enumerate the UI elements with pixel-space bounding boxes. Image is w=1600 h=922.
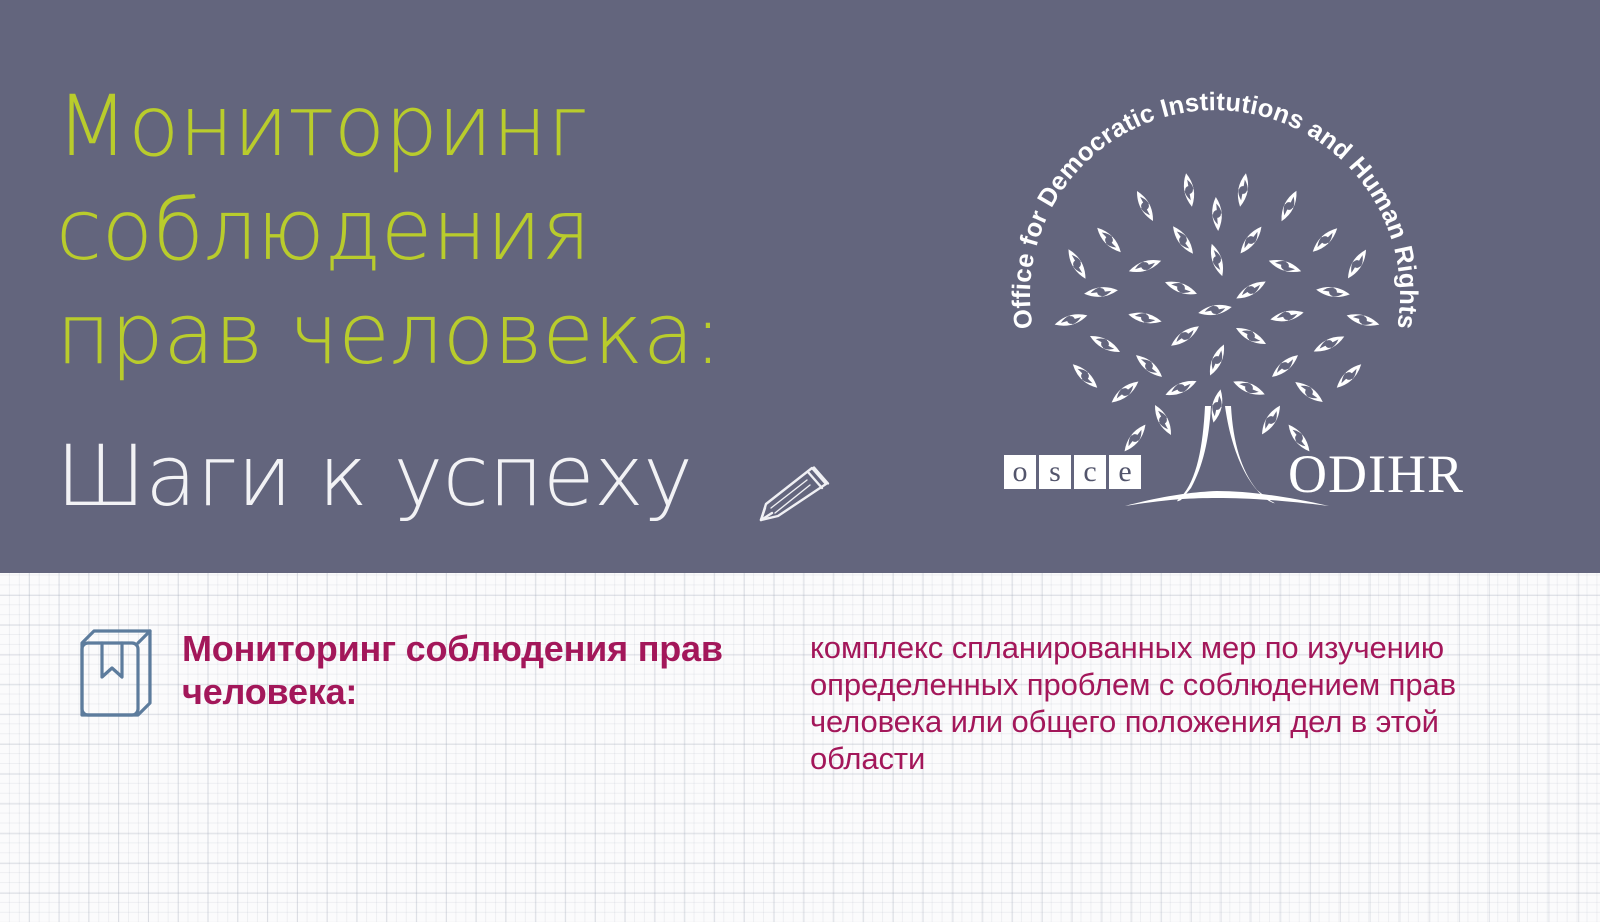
definition-section: Мониторинг соблюдения прав человека: ком… (0, 573, 1600, 922)
slide-title: Мониторинг соблюдения прав человека: Шаг… (56, 74, 936, 528)
title-line-1: Мониторинг (56, 74, 936, 178)
term-label: Мониторинг соблюдения прав человека: (182, 627, 782, 713)
osce-letter-c: c (1074, 455, 1106, 489)
osce-letter-s: s (1039, 455, 1071, 489)
osce-wordmark: o s c e (1004, 455, 1141, 489)
definition-text: комплекс спланированных мер по изучению … (810, 629, 1510, 777)
odihr-wordmark: ODIHR (1288, 447, 1464, 501)
logo-tree-canopy (1053, 172, 1380, 454)
book-bookmark-icon (68, 625, 160, 721)
osce-letter-e: e (1109, 455, 1141, 489)
title-line-3: прав человека: (56, 282, 936, 386)
slide-root: Мониторинг соблюдения прав человека: Шаг… (0, 0, 1600, 922)
pencil-icon (738, 463, 834, 525)
osce-letter-o: o (1004, 455, 1036, 489)
title-header-band: Мониторинг соблюдения прав человека: Шаг… (0, 0, 1600, 573)
title-line-2: соблюдения (56, 178, 936, 282)
